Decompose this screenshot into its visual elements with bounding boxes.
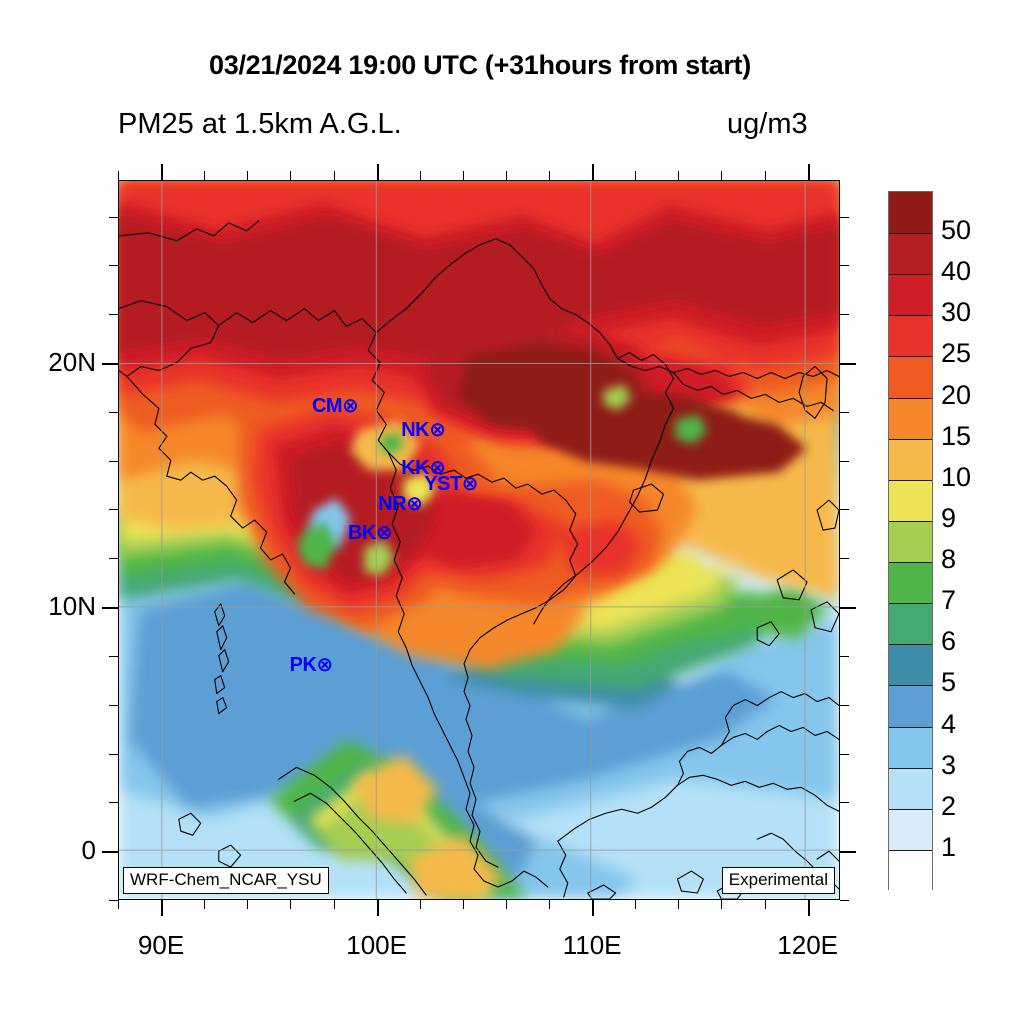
colorbar-label-20: 20 <box>941 382 971 409</box>
colorbar-separator <box>889 727 932 728</box>
colorbar-band-15-20 <box>889 398 932 439</box>
x-tick-top-108 <box>549 171 550 180</box>
colorbar-band-4-5 <box>889 685 932 726</box>
x-axis-label-120E: 120E <box>748 930 868 961</box>
colorbar-separator <box>889 809 932 810</box>
colorbar-band-<1 <box>889 850 932 891</box>
y-tick-14 <box>109 509 118 510</box>
pm25-forecast-map: 03/21/2024 19:00 UTC (+31hours from star… <box>0 0 1024 1024</box>
x-tick-top-118 <box>765 171 766 180</box>
colorbar-separator <box>889 274 932 275</box>
colorbar-label-30: 30 <box>941 299 971 326</box>
x-tick-top-106 <box>506 171 507 180</box>
x-tick-top-88 <box>118 171 119 180</box>
y-tick-right--2 <box>840 900 849 901</box>
colorbar-band-6-7 <box>889 603 932 644</box>
x-tick-94 <box>247 900 248 909</box>
y-tick-right-10 <box>840 607 856 609</box>
colorbar-separator <box>889 768 932 769</box>
page-title: 03/21/2024 19:00 UTC (+31hours from star… <box>0 50 960 81</box>
x-tick-top-92 <box>204 171 205 180</box>
colorbar-band-30-40 <box>889 274 932 315</box>
colorbar-label-1: 1 <box>941 834 956 861</box>
x-axis-label-90E: 90E <box>101 930 221 961</box>
status-tag: Experimental <box>722 867 835 894</box>
x-tick-top-116 <box>721 171 722 180</box>
x-tick-top-98 <box>334 171 335 180</box>
x-tick-104 <box>463 900 464 909</box>
y-tick-right-24 <box>840 265 849 266</box>
x-tick-98 <box>334 900 335 909</box>
colorbar-separator <box>889 603 932 604</box>
y-tick-20 <box>102 363 118 365</box>
colorbar-separator <box>889 480 932 481</box>
colorbar-band-9-10 <box>889 480 932 521</box>
colorbar-separator <box>889 233 932 234</box>
y-tick-right-22 <box>840 314 849 315</box>
y-tick-24 <box>109 265 118 266</box>
y-tick-right-16 <box>840 461 849 462</box>
x-tick-112 <box>635 900 636 909</box>
units-label: ug/m3 <box>727 108 808 141</box>
y-tick-16 <box>109 461 118 462</box>
x-tick-102 <box>420 900 421 909</box>
colorbar-band->50 <box>889 192 932 233</box>
chart-subtitle: PM25 at 1.5km A.G.L. <box>118 108 402 141</box>
colorbar-separator <box>889 644 932 645</box>
y-tick-12 <box>109 558 118 559</box>
y-tick-right-26 <box>840 217 849 218</box>
colorbar-band-40-50 <box>889 233 932 274</box>
colorbar-separator <box>889 521 932 522</box>
x-tick-106 <box>506 900 507 909</box>
colorbar-label-4: 4 <box>941 711 956 738</box>
colorbar[interactable] <box>888 191 933 890</box>
x-tick-top-114 <box>678 171 679 180</box>
colorbar-label-6: 6 <box>941 628 956 655</box>
city-marker-nk[interactable]: NK⊗ <box>401 420 445 440</box>
x-tick-118 <box>765 900 766 909</box>
y-tick-18 <box>109 412 118 413</box>
x-tick-top-112 <box>635 171 636 180</box>
colorbar-label-7: 7 <box>941 587 956 614</box>
y-tick-right-4 <box>840 754 849 755</box>
colorbar-band-5-6 <box>889 644 932 685</box>
colorbar-band-25-30 <box>889 315 932 356</box>
y-tick-0 <box>102 851 118 853</box>
y-tick-right-8 <box>840 656 849 657</box>
x-tick-96 <box>290 900 291 909</box>
city-marker-yst[interactable]: YST⊗ <box>424 474 478 494</box>
colorbar-separator <box>889 439 932 440</box>
x-tick-top-104 <box>463 171 464 180</box>
x-tick-114 <box>678 900 679 909</box>
x-tick-108 <box>549 900 550 909</box>
colorbar-band-3-4 <box>889 727 932 768</box>
city-marker-nr[interactable]: NR⊗ <box>378 494 422 514</box>
y-tick-6 <box>109 705 118 706</box>
map-plot-area: CM⊗ NK⊗ KK⊗ YST⊗ NR⊗ BK⊗ PK⊗ WRF-Chem_NC… <box>118 180 840 900</box>
y-tick-right-2 <box>840 802 849 803</box>
colorbar-label-2: 2 <box>941 793 956 820</box>
y-tick-22 <box>109 314 118 315</box>
colorbar-band-20-25 <box>889 356 932 397</box>
y-tick-right-18 <box>840 412 849 413</box>
x-tick-top-100 <box>377 164 379 180</box>
x-tick-top-96 <box>290 171 291 180</box>
colorbar-label-3: 3 <box>941 752 956 779</box>
x-tick-top-110 <box>592 164 594 180</box>
x-tick-92 <box>204 900 205 909</box>
colorbar-separator <box>889 685 932 686</box>
y-axis-label-0: 0 <box>0 835 96 866</box>
colorbar-label-8: 8 <box>941 546 956 573</box>
x-axis-label-110E: 110E <box>532 930 652 961</box>
y-tick-right-20 <box>840 363 856 365</box>
y-tick-right-14 <box>840 509 849 510</box>
city-marker-cm[interactable]: CM⊗ <box>312 396 358 416</box>
pm25-contour-field <box>119 181 839 899</box>
model-tag: WRF-Chem_NCAR_YSU <box>123 867 329 894</box>
colorbar-separator <box>889 315 932 316</box>
colorbar-label-9: 9 <box>941 505 956 532</box>
colorbar-label-50: 50 <box>941 217 971 244</box>
y-tick--2 <box>109 900 118 901</box>
colorbar-separator <box>889 850 932 851</box>
y-tick-right-6 <box>840 705 849 706</box>
colorbar-separator <box>889 562 932 563</box>
x-tick-top-102 <box>420 171 421 180</box>
x-tick-top-90 <box>161 164 163 180</box>
colorbar-band-2-3 <box>889 768 932 809</box>
colorbar-band-10-15 <box>889 439 932 480</box>
y-axis-label-20N: 20N <box>0 347 96 378</box>
y-tick-8 <box>109 656 118 657</box>
colorbar-label-5: 5 <box>941 669 956 696</box>
y-tick-26 <box>109 217 118 218</box>
y-axis-label-10N: 10N <box>0 591 96 622</box>
x-axis-label-100E: 100E <box>317 930 437 961</box>
x-tick-116 <box>721 900 722 909</box>
city-marker-bk[interactable]: BK⊗ <box>348 523 392 543</box>
colorbar-separator <box>889 398 932 399</box>
colorbar-separator <box>889 356 932 357</box>
colorbar-label-40: 40 <box>941 258 971 285</box>
x-tick-90 <box>161 900 163 916</box>
x-tick-top-94 <box>247 171 248 180</box>
y-tick-10 <box>102 607 118 609</box>
colorbar-label-10: 10 <box>941 464 971 491</box>
y-tick-2 <box>109 802 118 803</box>
x-tick-88 <box>118 900 119 909</box>
colorbar-label-15: 15 <box>941 423 971 450</box>
x-tick-top-120 <box>808 164 810 180</box>
x-tick-120 <box>808 900 810 916</box>
y-tick-4 <box>109 754 118 755</box>
y-tick-right-0 <box>840 851 856 853</box>
colorbar-band-7-8 <box>889 562 932 603</box>
colorbar-band-8-9 <box>889 521 932 562</box>
x-tick-100 <box>377 900 379 916</box>
y-tick-right-12 <box>840 558 849 559</box>
colorbar-label-25: 25 <box>941 340 971 367</box>
x-tick-110 <box>592 900 594 916</box>
city-marker-pk[interactable]: PK⊗ <box>290 655 333 675</box>
colorbar-band-1-2 <box>889 809 932 850</box>
